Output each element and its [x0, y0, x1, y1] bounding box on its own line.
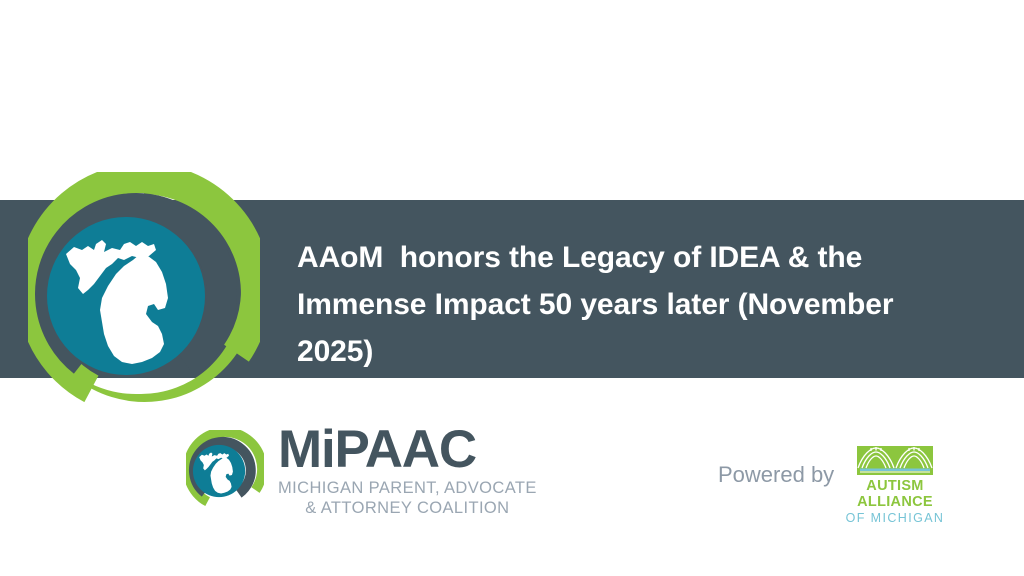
sponsor-logo-lockup: AUTISM ALLIANCE OF MICHIGAN — [827, 446, 963, 526]
hero-logo — [28, 172, 260, 408]
mipaac-logo-lockup: MiPAAC MICHIGAN PARENT, ADVOCATE & ATTOR… — [186, 424, 537, 518]
mipaac-logo-mark — [186, 430, 264, 508]
slide-canvas: AAoM honors the Legacy of IDEA & the Imm… — [0, 0, 1024, 576]
mipaac-tagline: MICHIGAN PARENT, ADVOCATE & ATTORNEY COA… — [278, 478, 537, 518]
sponsor-name-line-1: AUTISM ALLIANCE — [827, 478, 963, 510]
sponsor-name-line-2: OF MICHIGAN — [827, 511, 963, 526]
mipaac-tagline-line-1: MICHIGAN PARENT, ADVOCATE — [278, 478, 537, 498]
mipaac-wordmark: MiPAAC — [278, 424, 537, 476]
powered-by-label: Powered by — [718, 462, 834, 488]
page-title: AAoM honors the Legacy of IDEA & the Imm… — [297, 234, 969, 375]
autism-alliance-arcs-emblem-icon — [857, 446, 933, 475]
mipaac-typography: MiPAAC MICHIGAN PARENT, ADVOCATE & ATTOR… — [278, 424, 537, 518]
mipaac-tagline-line-2: & ATTORNEY COALITION — [278, 498, 537, 518]
